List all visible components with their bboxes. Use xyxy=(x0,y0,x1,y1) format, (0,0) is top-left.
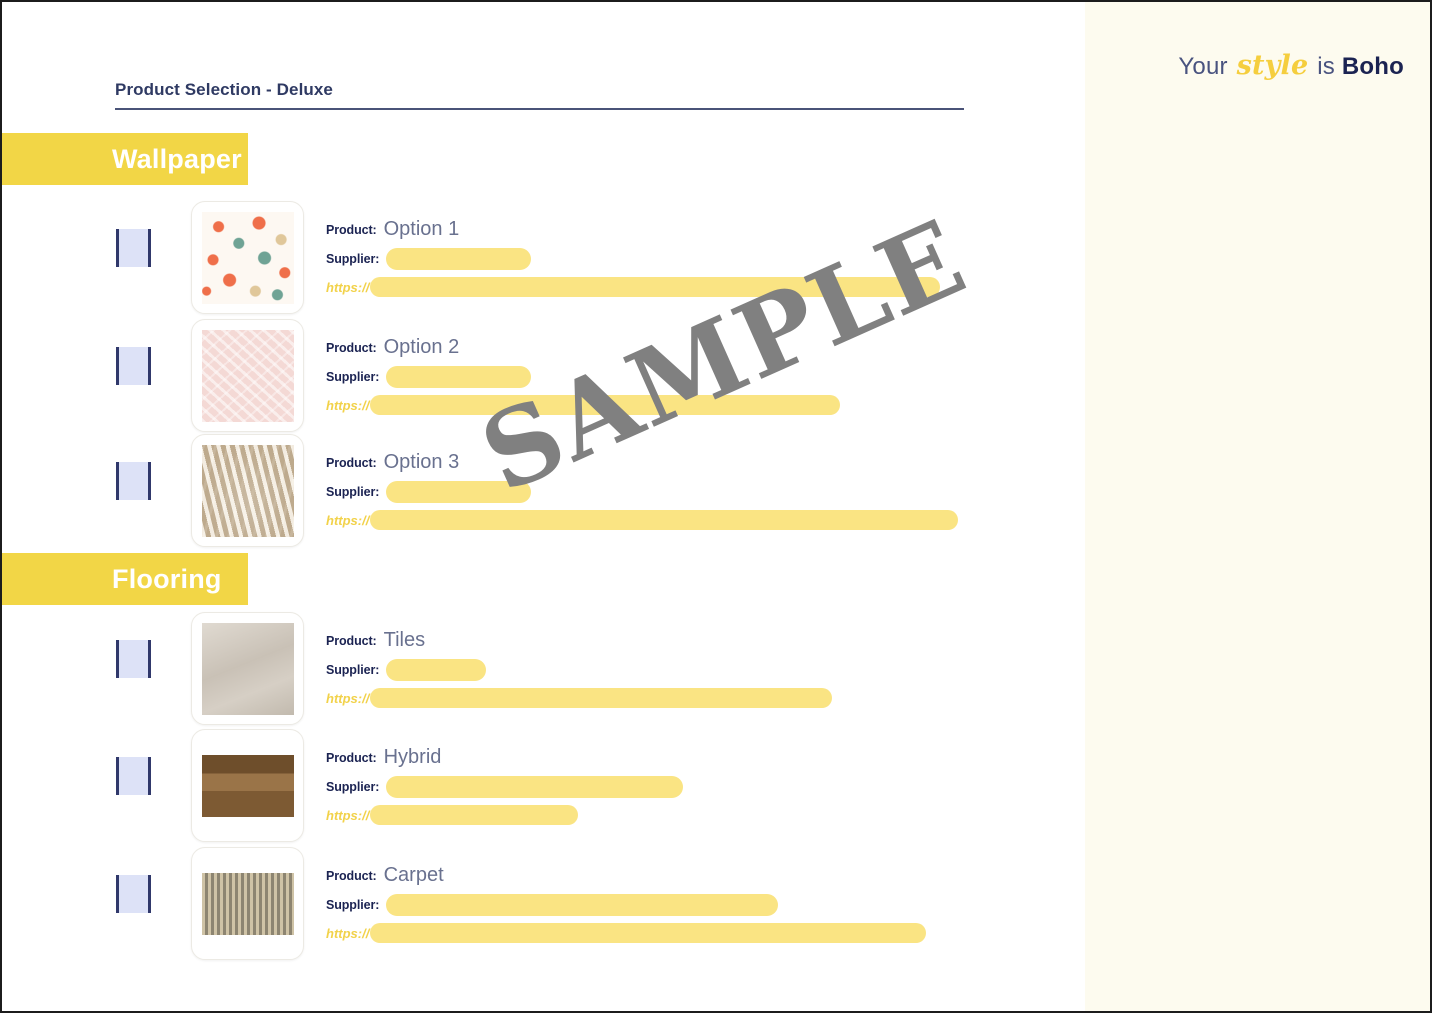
product-value: Option 3 xyxy=(384,451,460,474)
url-field[interactable]: https:// xyxy=(326,919,986,947)
supplier-field: Supplier: xyxy=(326,362,986,391)
supplier-redaction-bar xyxy=(386,659,486,681)
product-row: Product:CarpetSupplier:https:// xyxy=(2,845,1012,965)
url-field[interactable]: https:// xyxy=(326,391,986,419)
product-label: Product: xyxy=(326,751,377,765)
product-field: Product:Carpet xyxy=(326,861,986,890)
supplier-label: Supplier: xyxy=(326,485,379,499)
supplier-redaction-bar xyxy=(386,481,531,503)
product-field: Product:Hybrid xyxy=(326,743,986,772)
product-value: Option 1 xyxy=(384,218,460,241)
document-page: Your style is Boho STYLE BOX P xyxy=(0,0,1432,1013)
supplier-field: Supplier: xyxy=(326,772,986,801)
url-redaction-bar xyxy=(370,395,840,415)
url-prefix: https:// xyxy=(326,691,369,706)
url-prefix: https:// xyxy=(326,280,369,295)
product-label: Product: xyxy=(326,456,377,470)
product-value: Tiles xyxy=(384,629,425,652)
timber-hybrid-swatch xyxy=(202,755,294,817)
product-value: Hybrid xyxy=(384,746,442,769)
product-row: Product:Option 1Supplier:https:// xyxy=(2,199,1012,319)
supplier-redaction-bar xyxy=(386,366,531,388)
url-redaction-bar xyxy=(370,688,832,708)
product-thumbnail[interactable] xyxy=(191,729,304,842)
supplier-label: Supplier: xyxy=(326,898,379,912)
product-row: Product:Option 3Supplier:https:// xyxy=(2,432,1012,552)
url-redaction-bar xyxy=(370,510,958,530)
tagline-your: Your xyxy=(1178,53,1227,80)
supplier-field: Supplier: xyxy=(326,655,986,684)
section-title-wallpaper: Wallpaper xyxy=(112,144,242,175)
product-value: Carpet xyxy=(384,864,444,887)
supplier-redaction-bar xyxy=(386,776,683,798)
product-field: Product:Tiles xyxy=(326,626,986,655)
supplier-label: Supplier: xyxy=(326,252,379,266)
url-redaction-bar xyxy=(370,277,940,297)
product-thumbnail[interactable] xyxy=(191,847,304,960)
product-fields: Product:CarpetSupplier:https:// xyxy=(326,861,986,947)
product-thumbnail[interactable] xyxy=(191,434,304,547)
product-select-checkbox[interactable] xyxy=(116,757,151,795)
stone-tile-swatch xyxy=(202,623,294,715)
tagline: Your style is Boho xyxy=(1178,50,1404,81)
url-prefix: https:// xyxy=(326,926,369,941)
supplier-field: Supplier: xyxy=(326,244,986,273)
title-divider xyxy=(115,108,964,110)
section-title-flooring: Flooring xyxy=(112,564,222,595)
product-thumbnail[interactable] xyxy=(191,201,304,314)
page-title-block: Product Selection - Deluxe xyxy=(115,80,964,110)
product-thumbnail[interactable] xyxy=(191,319,304,432)
supplier-label: Supplier: xyxy=(326,370,379,384)
product-select-checkbox[interactable] xyxy=(116,875,151,913)
url-redaction-bar xyxy=(370,923,926,943)
tagline-style: style xyxy=(1235,50,1311,81)
section-header-flooring: Flooring xyxy=(2,553,248,605)
product-select-checkbox[interactable] xyxy=(116,462,151,500)
product-row: Product:HybridSupplier:https:// xyxy=(2,727,1012,847)
product-fields: Product:TilesSupplier:https:// xyxy=(326,626,986,712)
pampas-grass-swatch xyxy=(202,445,294,537)
url-prefix: https:// xyxy=(326,398,369,413)
url-prefix: https:// xyxy=(326,808,369,823)
product-select-checkbox[interactable] xyxy=(116,229,151,267)
branding-panel: Your style is Boho STYLE BOX xyxy=(1085,2,1432,1013)
page-title: Product Selection - Deluxe xyxy=(115,80,964,108)
supplier-redaction-bar xyxy=(386,894,778,916)
product-thumbnail[interactable] xyxy=(191,612,304,725)
url-field[interactable]: https:// xyxy=(326,506,986,534)
url-redaction-bar xyxy=(370,805,578,825)
supplier-field: Supplier: xyxy=(326,890,986,919)
product-fields: Product:Option 1Supplier:https:// xyxy=(326,215,986,301)
product-fields: Product:HybridSupplier:https:// xyxy=(326,743,986,829)
url-field[interactable]: https:// xyxy=(326,684,986,712)
url-field[interactable]: https:// xyxy=(326,801,986,829)
product-row: Product:Option 2Supplier:https:// xyxy=(2,317,1012,437)
product-fields: Product:Option 2Supplier:https:// xyxy=(326,333,986,419)
product-label: Product: xyxy=(326,223,377,237)
tagline-is: is xyxy=(1317,53,1335,80)
url-prefix: https:// xyxy=(326,513,369,528)
product-field: Product:Option 3 xyxy=(326,448,986,477)
product-select-checkbox[interactable] xyxy=(116,640,151,678)
supplier-label: Supplier: xyxy=(326,780,379,794)
product-field: Product:Option 2 xyxy=(326,333,986,362)
tagline-boho: Boho xyxy=(1342,53,1404,80)
supplier-label: Supplier: xyxy=(326,663,379,677)
product-value: Option 2 xyxy=(384,336,460,359)
product-select-checkbox[interactable] xyxy=(116,347,151,385)
product-label: Product: xyxy=(326,341,377,355)
product-fields: Product:Option 3Supplier:https:// xyxy=(326,448,986,534)
url-field[interactable]: https:// xyxy=(326,273,986,301)
pink-botanical-swatch xyxy=(202,330,294,422)
supplier-redaction-bar xyxy=(386,248,531,270)
floral-coral-teal-swatch xyxy=(202,212,294,304)
product-field: Product:Option 1 xyxy=(326,215,986,244)
section-header-wallpaper: Wallpaper xyxy=(2,133,248,185)
woven-carpet-swatch xyxy=(202,873,294,935)
supplier-field: Supplier: xyxy=(326,477,986,506)
product-row: Product:TilesSupplier:https:// xyxy=(2,610,1012,730)
product-label: Product: xyxy=(326,634,377,648)
product-label: Product: xyxy=(326,869,377,883)
